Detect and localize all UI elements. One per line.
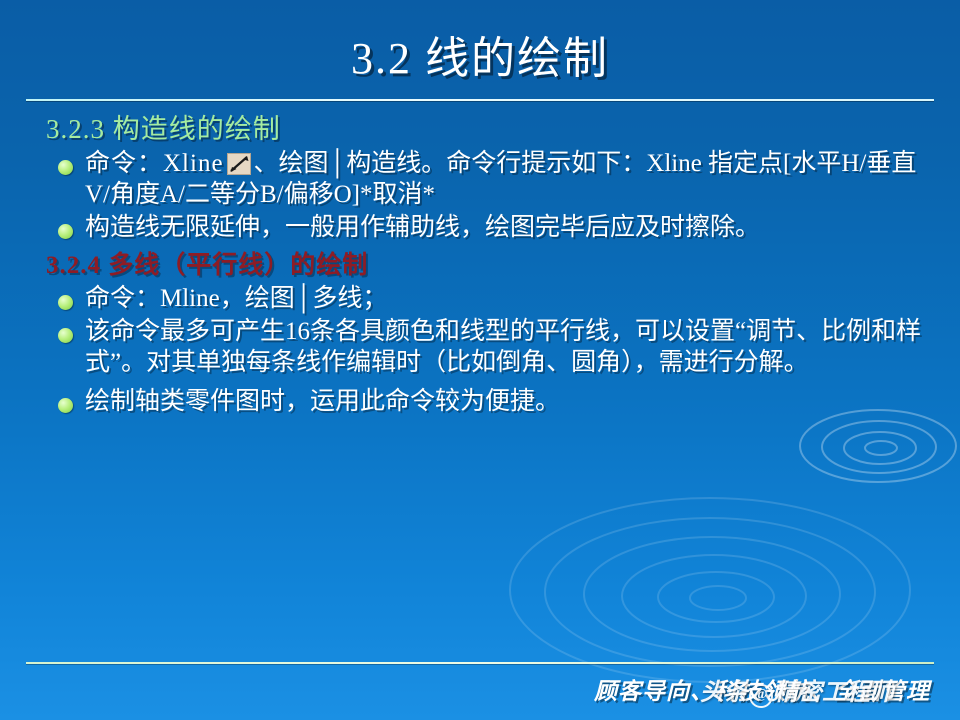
list-item: 命令：Mline，绘图│多线； <box>38 283 938 314</box>
slide-title: 3.2 线的绘制 <box>0 22 960 86</box>
list-item: 该命令最多可产生16条各具颜色和线型的平行线，可以设置“调节、比例和样式”。对其… <box>38 316 938 378</box>
watermark-suffix: 精密工程师 <box>774 680 894 706</box>
watermark-prefix: 头条 <box>700 680 748 706</box>
section-heading-324: 3.2.4 多线（平行线）的绘制 <box>46 249 938 283</box>
bullet-dot-icon <box>58 295 73 310</box>
bullet-dot-icon <box>58 160 73 175</box>
footer-divider <box>26 662 934 664</box>
xline-tool-icon[interactable] <box>227 153 251 175</box>
bullet-dot-icon <box>58 224 73 239</box>
list-item-text: 构造线无限延伸，一般用作辅助线，绘图完毕后应及时擦除。 <box>85 212 938 243</box>
bullet-dot-icon <box>58 398 73 413</box>
list-item: 构造线无限延伸，一般用作辅助线，绘图完毕后应及时擦除。 <box>38 212 938 243</box>
bullet-pre-icon-text: 命令：Xline <box>85 150 224 177</box>
slide-canvas: 3.2 线的绘制 3.2.3 构造线的绘制 命令：Xline、绘图│构造线。命令… <box>0 0 960 720</box>
title-divider <box>26 99 934 101</box>
list-item: 命令：Xline、绘图│构造线。命令行提示如下：Xline 指定点[水平H/垂直… <box>38 148 938 210</box>
slide-body: 3.2.3 构造线的绘制 命令：Xline、绘图│构造线。命令行提示如下：Xli… <box>38 112 938 419</box>
list-item-text: 绘制轴类零件图时，运用此命令较为便捷。 <box>85 386 938 417</box>
bullet-dot-icon <box>58 328 73 343</box>
section-heading-323: 3.2.3 构造线的绘制 <box>46 112 938 146</box>
list-item: 绘制轴类零件图时，运用此命令较为便捷。 <box>38 386 938 417</box>
list-item-text: 该命令最多可产生16条各具颜色和线型的平行线，可以设置“调节、比例和样式”。对其… <box>85 316 938 378</box>
list-item-text: 命令：Mline，绘图│多线； <box>85 283 938 314</box>
ripple-decoration <box>480 400 960 700</box>
watermark-at-icon: @ <box>749 684 773 708</box>
list-item-text: 命令：Xline、绘图│构造线。命令行提示如下：Xline 指定点[水平H/垂直… <box>85 148 938 210</box>
watermark: 头条@精密工程师 <box>700 672 894 708</box>
